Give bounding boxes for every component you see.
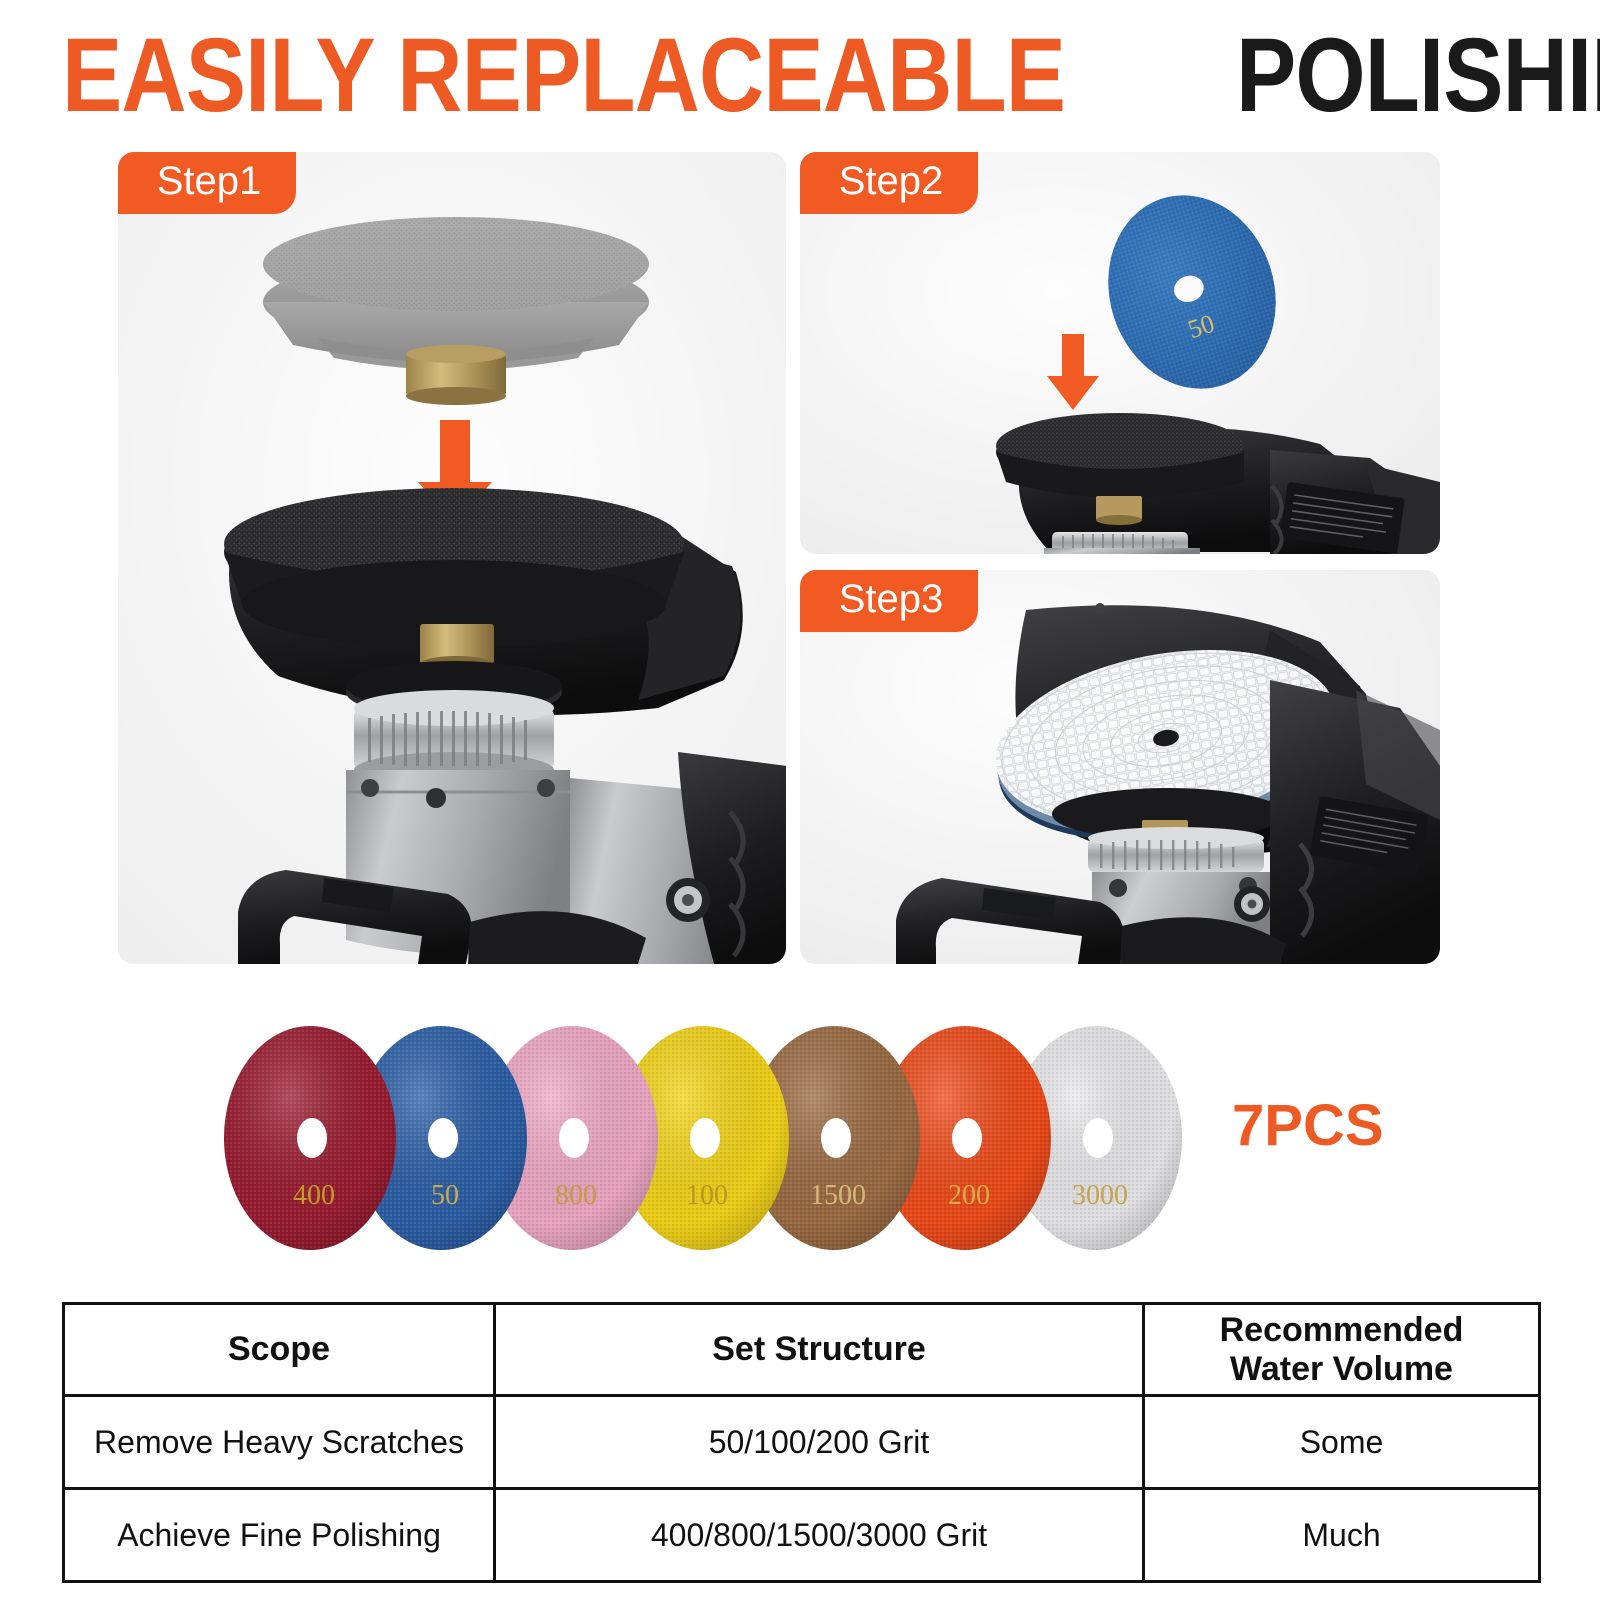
title-highlight: EASILY REPLACEABLE: [62, 26, 1065, 126]
pieces-count-label: 7PCS: [1232, 1092, 1384, 1159]
step1-illustration: [118, 152, 786, 964]
cell-structure: 50/100/200 Grit: [495, 1396, 1144, 1489]
cell-water: Some: [1144, 1396, 1540, 1489]
step1-badge: Step1: [118, 152, 296, 214]
step1-panel: Step1: [118, 152, 786, 964]
polishing-pad-set: 3000200150010080050400: [218, 1018, 1218, 1258]
pad-grit-label: 200: [948, 1180, 990, 1211]
cell-structure: 400/800/1500/3000 Grit: [495, 1489, 1144, 1582]
cell-scope: Remove Heavy Scratches: [64, 1396, 495, 1489]
header-scope: Scope: [64, 1304, 495, 1396]
brass-hub: [406, 345, 506, 405]
pad-grit-label: 1500: [810, 1180, 866, 1211]
pad-grit-label: 50: [431, 1180, 459, 1211]
pad-grit-label: 3000: [1072, 1180, 1128, 1211]
polishing-pad: 400: [224, 1026, 396, 1250]
spec-table: Scope Set Structure Recommended Water Vo…: [62, 1302, 1541, 1583]
infographic-page: EASILY REPLACEABLE POLISHING PADS: [0, 0, 1600, 1600]
title-rest: POLISHING PADS: [1236, 26, 1600, 126]
header-water-line2: Water Volume: [1230, 1350, 1453, 1388]
pad-grit-label: 400: [293, 1180, 335, 1211]
page-title: EASILY REPLACEABLE POLISHING PADS: [62, 26, 1540, 126]
step2-panel: 50: [800, 152, 1440, 554]
header-water-line1: Recommended: [1220, 1311, 1464, 1349]
header-set-structure: Set Structure: [495, 1304, 1144, 1396]
table-row: Remove Heavy Scratches 50/100/200 Grit S…: [64, 1396, 1540, 1489]
header-recommended-water-volume: Recommended Water Volume: [1144, 1304, 1540, 1396]
step2-badge: Step2: [800, 152, 978, 214]
table-row: Achieve Fine Polishing 400/800/1500/3000…: [64, 1489, 1540, 1582]
chrome-clamp: [1088, 827, 1264, 872]
cell-scope: Achieve Fine Polishing: [64, 1489, 495, 1582]
cell-water: Much: [1144, 1489, 1540, 1582]
pad-grit-label: 100: [686, 1180, 728, 1211]
table-header-row: Scope Set Structure Recommended Water Vo…: [64, 1304, 1540, 1396]
pad-grit-label: 800: [555, 1180, 597, 1211]
step3-panel: Step3: [800, 570, 1440, 964]
step3-badge: Step3: [800, 570, 978, 632]
